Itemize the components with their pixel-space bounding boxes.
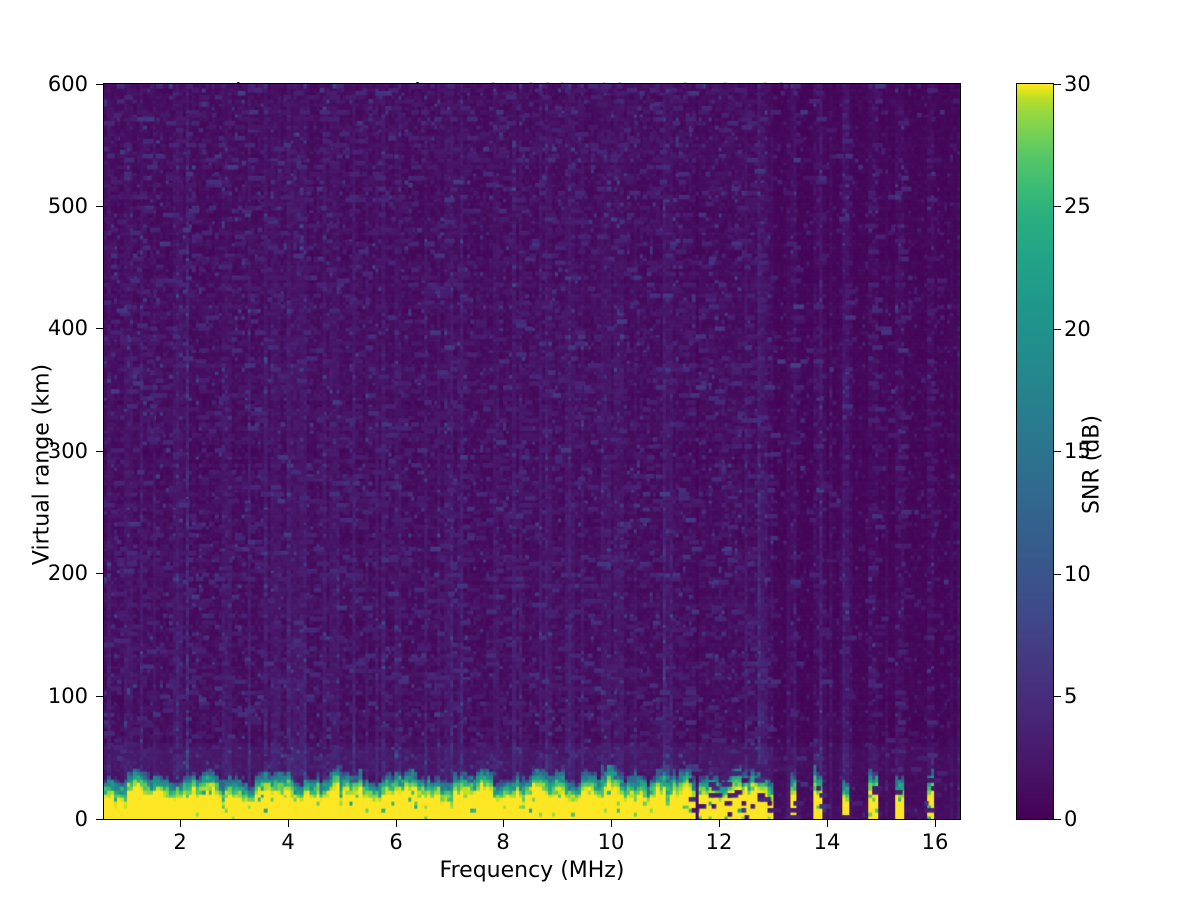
y-tick-500 (96, 206, 103, 207)
x-tick-14 (827, 820, 828, 827)
x-tick-10 (611, 820, 612, 827)
y-axis-label: Virtual range (km) (30, 325, 55, 605)
ionogram-heatmap (104, 84, 960, 819)
x-axis-label: Frequency (MHz) (103, 858, 961, 883)
x-tick-label-2: 2 (173, 830, 186, 854)
y-tick-600 (96, 84, 103, 85)
y-tick-400 (96, 328, 103, 329)
x-tick-4 (288, 820, 289, 827)
colorbar-label: SNR (dB) (1080, 325, 1105, 605)
ionogram-figure: IRF Kiruna Ionosonde KI167 2025-09-17 04… (0, 0, 1200, 900)
x-tick-label-16: 16 (922, 830, 949, 854)
colorbar-tick-label-5: 5 (1064, 684, 1077, 708)
y-tick-label-500: 500 (0, 194, 88, 218)
x-tick-6 (396, 820, 397, 827)
y-tick-label-600: 600 (0, 72, 88, 96)
y-tick-200 (96, 573, 103, 574)
colorbar-tick-5 (1054, 696, 1061, 697)
x-tick-label-4: 4 (281, 830, 294, 854)
colorbar (1016, 83, 1054, 820)
x-tick-label-8: 8 (496, 830, 509, 854)
y-tick-100 (96, 696, 103, 697)
x-tick-label-6: 6 (389, 830, 402, 854)
colorbar-tick-label-25: 25 (1064, 194, 1091, 218)
y-tick-label-100: 100 (0, 684, 88, 708)
colorbar-tick-15 (1054, 451, 1061, 452)
x-tick-label-10: 10 (598, 830, 625, 854)
y-tick-label-0: 0 (0, 807, 88, 831)
x-tick-8 (503, 820, 504, 827)
x-tick-label-12: 12 (706, 830, 733, 854)
colorbar-tick-label-0: 0 (1064, 807, 1077, 831)
colorbar-tick-label-30: 30 (1064, 72, 1091, 96)
x-tick-12 (719, 820, 720, 827)
x-tick-label-14: 14 (814, 830, 841, 854)
x-tick-16 (935, 820, 936, 827)
colorbar-tick-10 (1054, 574, 1061, 575)
x-tick-2 (180, 820, 181, 827)
colorbar-tick-0 (1054, 819, 1061, 820)
y-tick-300 (96, 451, 103, 452)
y-tick-0 (96, 819, 103, 820)
plot-area (103, 83, 961, 820)
colorbar-tick-20 (1054, 329, 1061, 330)
colorbar-tick-30 (1054, 84, 1061, 85)
colorbar-tick-25 (1054, 206, 1061, 207)
